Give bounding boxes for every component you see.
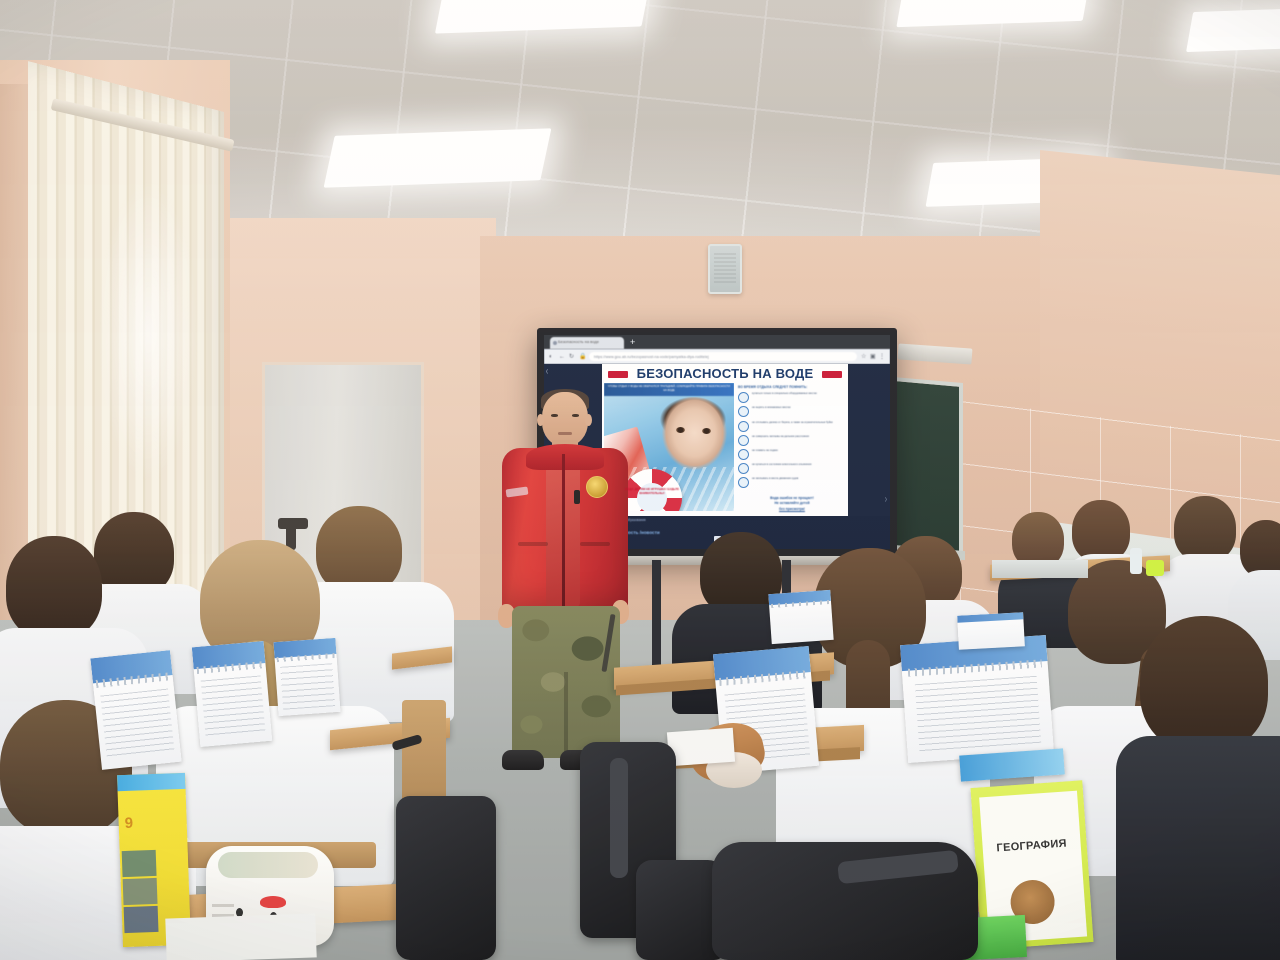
textbook-photo xyxy=(123,878,158,905)
wall-speaker-icon xyxy=(708,244,742,294)
presenter-eye xyxy=(572,414,579,417)
safety-rules-list: ВО ВРЕМЯ ОТДЫХА СЛЕДУЕТ ПОМНИТЬ: купатьс… xyxy=(738,385,846,511)
presenter-ear xyxy=(585,414,592,426)
rule-bullet-icon xyxy=(738,392,749,403)
rule-item: не плавать на лодках xyxy=(738,449,846,460)
student xyxy=(1126,616,1280,960)
pencil-case-zipper xyxy=(218,852,318,878)
textbook-photo xyxy=(122,850,157,877)
presenter-mouth xyxy=(558,432,572,435)
presenter-eye xyxy=(551,414,558,417)
lock-icon: 🔒 xyxy=(579,354,585,360)
star-icon[interactable]: ☆ xyxy=(861,354,867,360)
browser-tab-title: Безопасность на воде xyxy=(558,339,599,344)
paper-sheet xyxy=(667,728,735,767)
tv-stand-leg xyxy=(652,560,661,670)
reload-icon[interactable]: ↻ xyxy=(569,354,575,360)
page-side-marker: ⟩ xyxy=(885,497,887,503)
tab-favicon-icon xyxy=(553,341,557,345)
rule-text: не заплывать в места движения судов xyxy=(752,477,798,481)
rule-text: не совершать заплывы на дальние расстоян… xyxy=(752,435,809,439)
exercise-book xyxy=(90,650,181,770)
student-shirt xyxy=(1116,736,1280,960)
browser-tab[interactable]: Безопасность на воде xyxy=(550,337,624,349)
backpack-strap xyxy=(610,758,628,878)
new-tab-button[interactable]: + xyxy=(630,338,635,347)
green-chalkboard xyxy=(893,377,963,559)
rule-text: купаться только в специально оборудованн… xyxy=(752,392,817,396)
textbook-photo xyxy=(124,906,159,933)
book-lines xyxy=(200,675,265,738)
rule-bullet-icon xyxy=(738,421,749,432)
exercise-book xyxy=(768,590,833,644)
back-counter xyxy=(992,560,1088,578)
jacket-hood xyxy=(526,444,604,470)
trouser-seam xyxy=(564,672,568,758)
rule-item: купаться только в специально оборудованн… xyxy=(738,392,846,403)
rule-bullet-icon xyxy=(738,449,749,460)
exercise-book xyxy=(900,635,1054,763)
exercise-book xyxy=(957,612,1025,649)
rule-bullet-icon xyxy=(738,463,749,474)
forward-arrow-icon[interactable]: ← xyxy=(559,354,565,360)
presenter-shoe xyxy=(502,750,544,770)
child-face xyxy=(656,397,730,475)
rule-item: не совершать заплывы на дальние расстоян… xyxy=(738,435,846,446)
jacket-pocket xyxy=(518,542,548,546)
rule-item: не заплывать в места движения судов xyxy=(738,477,846,488)
rule-text: не нырять в незнакомых местах xyxy=(752,406,791,410)
browser-address-bar: ◐ ← ↻ 🔒 https://www.gou.ab.ru/bezopasnos… xyxy=(544,349,890,364)
child-eye xyxy=(676,427,685,433)
puzzle-icon[interactable]: ▣ xyxy=(870,354,876,360)
rule-item: не нырять в незнакомых местах xyxy=(738,406,846,417)
presenter xyxy=(494,392,634,790)
rule-text: не плавать на лодках xyxy=(752,449,778,453)
backpack xyxy=(396,796,496,960)
rule-text: не купаться в состоянии алкогольного опь… xyxy=(752,463,811,467)
paper-sheet xyxy=(165,913,316,960)
book-lines xyxy=(101,689,175,761)
poster-footer: Вода ошибок не прощает! Не оставляйте де… xyxy=(738,496,846,512)
browser-tab-bar: Безопасность на воде + xyxy=(544,335,890,349)
book-lines xyxy=(280,663,335,709)
emblem-patch-icon xyxy=(586,476,608,498)
student-head xyxy=(6,536,102,640)
ceiling-light-panel xyxy=(324,128,552,187)
textbook-grade-number: 9 xyxy=(124,815,133,832)
presenter-ear xyxy=(537,414,544,426)
water-bottle xyxy=(1130,548,1142,574)
rule-item: не отплывать далеко от берега, а также з… xyxy=(738,421,846,432)
exercise-book xyxy=(192,641,272,747)
student-head xyxy=(1174,496,1236,562)
classroom-photo: Безопасность на воде + ◐ ← ↻ 🔒 https://w… xyxy=(0,0,1280,960)
poster-title: БЕЗОПАСНОСТЬ НА ВОДЕ xyxy=(602,366,848,381)
rule-bullet-icon xyxy=(738,435,749,446)
rule-bullet-icon xyxy=(738,406,749,417)
page-side-marker: ⟨ xyxy=(546,369,548,375)
microphone-icon xyxy=(574,490,580,504)
url-input[interactable]: https://www.gou.ab.ru/bezopasnost-na-vod… xyxy=(589,352,857,361)
rule-text: не отплывать далеко от берега, а также з… xyxy=(752,421,833,425)
jacket-zipper xyxy=(562,454,565,610)
ceiling-light-panel xyxy=(1186,8,1280,52)
kebab-menu-icon[interactable]: ⋮ xyxy=(879,354,885,360)
hello-kitty-bow-icon xyxy=(260,896,286,908)
jacket-pocket xyxy=(580,542,610,546)
rules-heading: ВО ВРЕМЯ ОТДЫХА СЛЕДУЕТ ПОМНИТЬ: xyxy=(738,385,846,389)
footer-line: без присмотра! xyxy=(738,507,846,512)
textbook-top-band xyxy=(117,773,186,791)
hello-kitty-whisker xyxy=(212,904,234,907)
book-lines xyxy=(915,676,1042,753)
lifebuoy-text: ВОДА ДЕТЯМ НЕ ИГРУШКА! БУДЬТЕ ВНИМАТЕЛЬН… xyxy=(622,487,682,496)
rule-bullet-icon xyxy=(738,477,749,488)
green-item xyxy=(1146,560,1164,576)
water-safety-poster: БЕЗОПАСНОСТЬ НА ВОДЕ ЧТОБЫ ОТДЫХ У ВОДЫ … xyxy=(602,364,848,516)
rule-item: не купаться в состоянии алкогольного опь… xyxy=(738,463,846,474)
presenter-head xyxy=(542,392,588,446)
student-head xyxy=(1140,616,1268,752)
exercise-book xyxy=(273,638,340,716)
browser-toolbar-icons: ☆ ▣ ⋮ xyxy=(861,354,885,360)
student-head xyxy=(1072,500,1130,562)
back-arrow-icon[interactable]: ◐ xyxy=(549,354,555,360)
child-eye xyxy=(702,428,711,434)
